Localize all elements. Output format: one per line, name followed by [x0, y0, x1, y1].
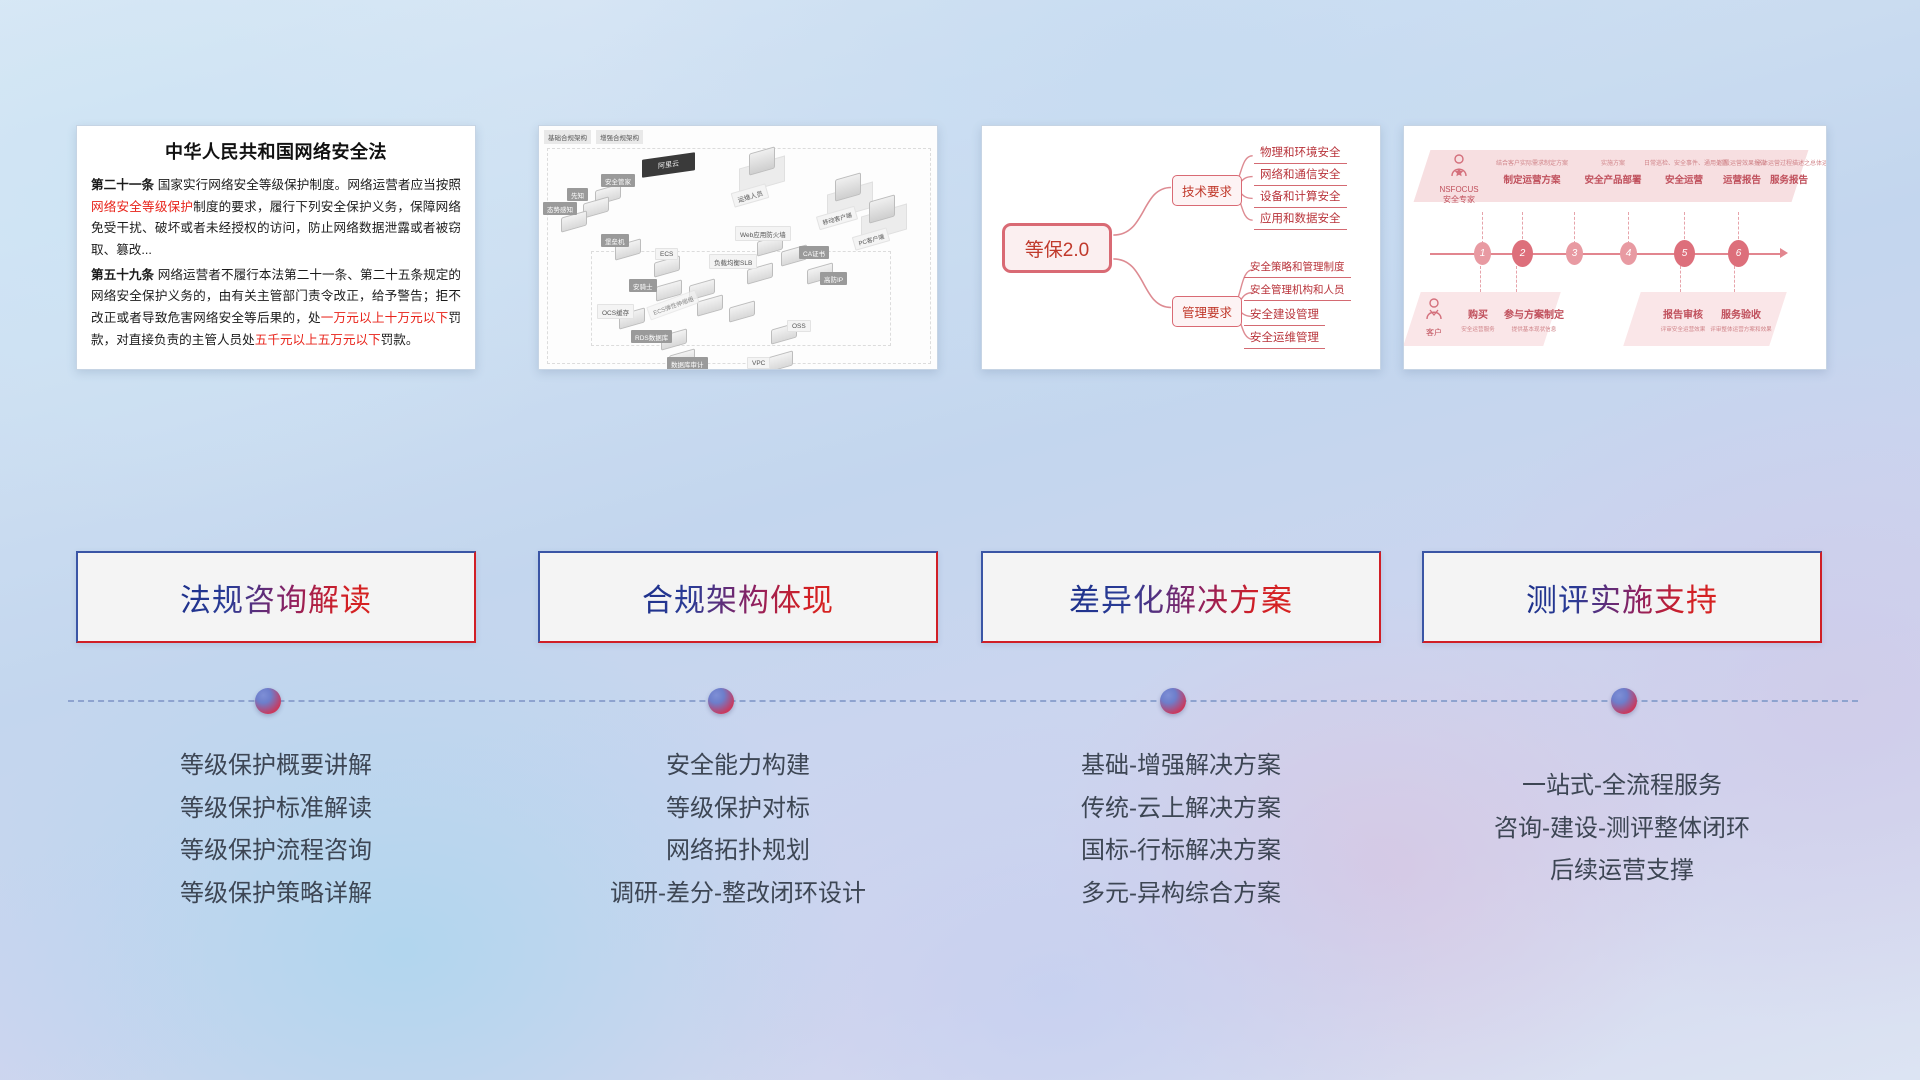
- mindmap-leaf-device[interactable]: 设备和计算安全: [1254, 188, 1347, 208]
- article-59-label: 第五十九条: [91, 268, 154, 282]
- arch-label-高防IP: 高防IP: [820, 272, 847, 285]
- arch-tab-row: 基础合规架构 增强合规架构: [544, 130, 643, 144]
- mindmap-leaf-org[interactable]: 安全管理机构和人员: [1244, 282, 1351, 301]
- process-top-step-1-title: 制定运营方案: [1490, 172, 1574, 186]
- persona-customer: 客户: [1414, 298, 1454, 338]
- article-59-highlight-2: 五千元以上五万元以下: [255, 333, 381, 347]
- timeline: [0, 700, 1920, 730]
- process-step-number-3: 3: [1566, 242, 1583, 265]
- bullet-column-2: 安全能力构建 等级保护对标 网络拓扑规划 调研-差分-整改闭环设计: [538, 745, 938, 916]
- list-item: 等级保护策略详解: [76, 873, 476, 916]
- process-tie-3: [1574, 212, 1575, 244]
- heading-label-2: 合规架构体现: [642, 575, 834, 620]
- process-tie-b1: [1480, 266, 1481, 292]
- process-top-step-2[interactable]: 实施方案 安全产品部署: [1574, 158, 1652, 186]
- process-bottom-step-4-sub: 评审整体运营方案和效果: [1708, 325, 1774, 333]
- bullet-column-3: 基础-增强解决方案 传统-云上解决方案 国标-行标解决方案 多元-异构综合方案: [981, 745, 1381, 916]
- persona-customer-label: 客户: [1414, 327, 1454, 338]
- heading-box-assessment-support[interactable]: 测评实施支持: [1422, 551, 1822, 643]
- mindmap-leaf-construction[interactable]: 安全建设管理: [1244, 306, 1325, 326]
- customer-person-icon: [1424, 298, 1444, 320]
- timeline-dashed-line: [68, 700, 1858, 702]
- process-tie-b6: [1734, 266, 1735, 292]
- heading-box-differentiated-solution[interactable]: 差异化解决方案: [981, 551, 1381, 643]
- arch-label-Web应用防火墙: Web应用防火墙: [735, 226, 791, 241]
- list-item: 后续运营支撑: [1422, 850, 1822, 893]
- arch-label-ECS: ECS: [655, 248, 678, 260]
- arch-label-安全管家: 安全管家: [601, 174, 635, 187]
- mindmap-leaf-application[interactable]: 应用和数据安全: [1254, 210, 1347, 230]
- article-21-text-part1: 国家实行网络安全等级保护制度。网络运营者应当按照: [158, 178, 461, 192]
- mindmap-branch-technical[interactable]: 技术要求: [1172, 175, 1242, 206]
- process-top-step-5-title: 服务报告: [1756, 172, 1822, 186]
- process-top-step-5[interactable]: 总体运营过程描述之总体运营效果 服务报告: [1756, 158, 1822, 186]
- arch-label-RDS数据库: RDS数据库: [631, 330, 672, 343]
- mindmap-leaf-physical[interactable]: 物理和环境安全: [1254, 144, 1347, 164]
- process-bottom-step-2-sub: 提供基本现状信息: [1498, 325, 1570, 333]
- process-step-number-5: 5: [1674, 240, 1695, 267]
- arch-label-态势感知: 态势感知: [543, 202, 577, 215]
- process-step-number-1: 1: [1474, 242, 1491, 265]
- list-item: 传统-云上解决方案: [981, 788, 1381, 831]
- list-item: 等级保护对标: [538, 788, 938, 831]
- article-59-text-part3: 罚款。: [381, 333, 419, 347]
- arch-label-数据库审计: 数据库审计: [667, 357, 708, 370]
- law-document-body: 中华人民共和国网络安全法 第二十一条 国家实行网络安全等级保护制度。网络运营者应…: [77, 126, 475, 359]
- list-item: 等级保护流程咨询: [76, 830, 476, 873]
- process-top-step-2-sub: 实施方案: [1574, 158, 1652, 167]
- mindmap-leaf-operation[interactable]: 安全运维管理: [1244, 329, 1325, 349]
- arch-label-CA证书: CA证书: [799, 246, 829, 259]
- persona-expert-line2: 安全专家: [1428, 194, 1490, 205]
- heading-label-3: 差异化解决方案: [1069, 575, 1293, 620]
- arch-tab-basic[interactable]: 基础合规架构: [544, 130, 591, 144]
- process-top-step-5-sub: 总体运营过程描述之总体运营效果: [1756, 158, 1822, 167]
- expert-person-icon: [1448, 154, 1470, 178]
- mindmap-leaf-network[interactable]: 网络和通信安全: [1254, 166, 1347, 186]
- process-bottom-step-1[interactable]: 购买 安全运营服务: [1452, 306, 1504, 333]
- dengbao-mindmap: 等保2.0 技术要求 管理要求 物理和环境安全 网络和通信安全 设备和计算安全 …: [982, 126, 1380, 369]
- process-top-step-1[interactable]: 结合客户实际需求制定方案 制定运营方案: [1490, 158, 1574, 186]
- list-item: 基础-增强解决方案: [981, 745, 1381, 788]
- heading-box-regulation-consulting[interactable]: 法规咨询解读: [76, 551, 476, 643]
- timeline-dot-2[interactable]: [708, 688, 734, 714]
- list-item: 多元-异构综合方案: [981, 873, 1381, 916]
- process-bottom-step-2[interactable]: 参与方案制定 提供基本现状信息: [1498, 306, 1570, 333]
- persona-expert-line1: NSFOCUS: [1428, 185, 1490, 194]
- heading-row: 法规咨询解读 合规架构体现 差异化解决方案 测评实施支持: [0, 551, 1920, 646]
- timeline-dot-3[interactable]: [1160, 688, 1186, 714]
- bullet-column-1: 等级保护概要讲解 等级保护标准解读 等级保护流程咨询 等级保护策略详解: [76, 745, 476, 916]
- heading-label-4: 测评实施支持: [1526, 575, 1718, 620]
- timeline-dot-4[interactable]: [1611, 688, 1637, 714]
- arch-label-OCS缓存: OCS缓存: [597, 304, 634, 319]
- arch-label-负载均衡SLB: 负载均衡SLB: [709, 254, 757, 269]
- list-item: 调研-差分-整改闭环设计: [538, 873, 938, 916]
- mindmap-leaf-policy[interactable]: 安全策略和管理制度: [1244, 259, 1351, 278]
- process-step-number-6: 6: [1728, 240, 1749, 267]
- process-bottom-step-1-sub: 安全运营服务: [1452, 325, 1504, 333]
- mindmap-card[interactable]: 等保2.0 技术要求 管理要求 物理和环境安全 网络和通信安全 设备和计算安全 …: [981, 125, 1381, 370]
- heading-box-compliance-architecture[interactable]: 合规架构体现: [538, 551, 938, 643]
- process-top-step-1-sub: 结合客户实际需求制定方案: [1490, 158, 1574, 167]
- mindmap-branch-management[interactable]: 管理要求: [1172, 296, 1242, 327]
- process-tie-1: [1482, 212, 1483, 244]
- law-article-21: 第二十一条 国家实行网络安全等级保护制度。网络运营者应当按照网络安全等级保护制度…: [91, 175, 461, 262]
- process-top-step-2-title: 安全产品部署: [1574, 172, 1652, 186]
- process-tie-b2: [1516, 266, 1517, 292]
- cloud-architecture-card[interactable]: 基础合规架构 增强合规架构 阿里云 运维人员 移动客户端 PC客户端 安全管家 …: [538, 125, 938, 370]
- arch-label-VPC: VPC: [747, 357, 770, 369]
- list-item: 网络拓扑规划: [538, 830, 938, 873]
- process-bottom-step-2-title: 参与方案制定: [1498, 306, 1570, 321]
- arch-label-安骑士: 安骑士: [629, 279, 657, 292]
- cloud-architecture-diagram: 基础合规架构 增强合规架构 阿里云 运维人员 移动客户端 PC客户端 安全管家 …: [539, 126, 937, 369]
- process-bottom-step-1-title: 购买: [1452, 306, 1504, 321]
- process-bottom-step-3-sub: 评审安全运营效果: [1652, 325, 1714, 333]
- arch-tab-enhanced[interactable]: 增强合规架构: [596, 130, 643, 144]
- process-tie-4: [1628, 212, 1629, 244]
- process-tie-b5: [1680, 266, 1681, 292]
- heading-label-1: 法规咨询解读: [180, 575, 372, 620]
- list-item: 安全能力构建: [538, 745, 938, 788]
- list-item: 等级保护标准解读: [76, 788, 476, 831]
- process-bottom-step-4[interactable]: 服务验收 评审整体运营方案和效果: [1708, 306, 1774, 333]
- list-item: 一站式-全流程服务: [1422, 765, 1822, 808]
- nsfocus-process-card[interactable]: NSFOCUS 安全专家 结合客户实际需求制定方案 制定运营方案 实施方案 安全…: [1403, 125, 1827, 370]
- list-item: 咨询-建设-测评整体闭环: [1422, 808, 1822, 851]
- process-bottom-step-4-title: 服务验收: [1708, 306, 1774, 321]
- process-bottom-step-3[interactable]: 报告审核 评审安全运营效果: [1652, 306, 1714, 333]
- arch-label-堡垒机: 堡垒机: [601, 234, 629, 247]
- process-step-number-2: 2: [1512, 240, 1533, 267]
- process-step-number-4: 4: [1620, 242, 1637, 265]
- law-article-59: 第五十九条 网络运营者不履行本法第二十一条、第二十五条规定的网络安全保护义务的，…: [91, 265, 461, 352]
- bullet-column-4: 一站式-全流程服务 咨询-建设-测评整体闭环 后续运营支撑: [1422, 765, 1822, 893]
- arch-label-OSS: OSS: [787, 320, 811, 332]
- list-item: 等级保护概要讲解: [76, 745, 476, 788]
- law-document-card[interactable]: 中华人民共和国网络安全法 第二十一条 国家实行网络安全等级保护制度。网络运营者应…: [76, 125, 476, 370]
- nsfocus-process-diagram: NSFOCUS 安全专家 结合客户实际需求制定方案 制定运营方案 实施方案 安全…: [1404, 126, 1826, 369]
- persona-nsfocus-expert: NSFOCUS 安全专家: [1428, 154, 1490, 205]
- article-21-label: 第二十一条: [91, 178, 154, 192]
- list-item: 国标-行标解决方案: [981, 830, 1381, 873]
- article-21-highlight: 网络安全等级保护: [91, 200, 193, 214]
- image-card-row: 中华人民共和国网络安全法 第二十一条 国家实行网络安全等级保护制度。网络运营者应…: [0, 125, 1920, 370]
- process-bottom-step-3-title: 报告审核: [1652, 306, 1714, 321]
- process-axis-arrow-icon: [1780, 248, 1788, 258]
- mindmap-root-node[interactable]: 等保2.0: [1002, 223, 1112, 273]
- article-59-highlight-1: 一万元以上十万元以下: [321, 311, 449, 325]
- arch-label-先知: 先知: [567, 188, 588, 201]
- timeline-dot-1[interactable]: [255, 688, 281, 714]
- law-document-title: 中华人民共和国网络安全法: [91, 138, 461, 164]
